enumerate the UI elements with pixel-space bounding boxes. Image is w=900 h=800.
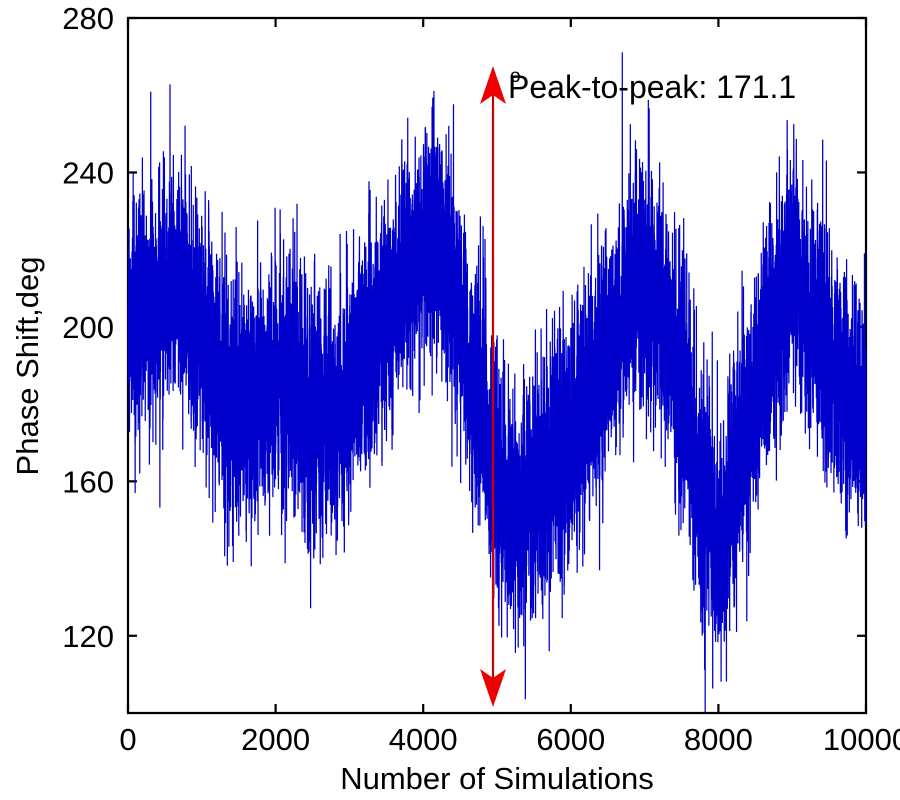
degree-superscript-icon: o bbox=[510, 66, 521, 87]
peak-to-peak-label: Peak-to-peak: 171.1 bbox=[508, 69, 796, 105]
x-tick-label: 2000 bbox=[241, 722, 310, 757]
x-axis-tick-labels: 0200040006000800010000 bbox=[119, 722, 900, 757]
x-axis-title: Number of Simulations bbox=[340, 761, 654, 796]
y-tick-label: 240 bbox=[62, 155, 114, 190]
x-tick-label: 8000 bbox=[684, 722, 753, 757]
chart-plot-area[interactable]: 120160200240280 0200040006000800010000 N… bbox=[0, 0, 900, 800]
figure-canvas: 120160200240280 0200040006000800010000 N… bbox=[0, 0, 900, 800]
y-tick-label: 280 bbox=[62, 1, 114, 36]
x-tick-label: 4000 bbox=[389, 722, 458, 757]
y-axis-tick-labels: 120160200240280 bbox=[62, 1, 114, 654]
phase-shift-trace[interactable] bbox=[128, 52, 866, 713]
series-group bbox=[128, 52, 866, 713]
y-tick-label: 160 bbox=[62, 464, 114, 499]
y-tick-label: 120 bbox=[62, 619, 114, 654]
y-axis-title: Phase Shift,deg bbox=[10, 257, 45, 476]
x-tick-label: 6000 bbox=[536, 722, 605, 757]
x-tick-label: 0 bbox=[119, 722, 136, 757]
x-tick-label: 10000 bbox=[823, 722, 900, 757]
y-tick-label: 200 bbox=[62, 310, 114, 345]
